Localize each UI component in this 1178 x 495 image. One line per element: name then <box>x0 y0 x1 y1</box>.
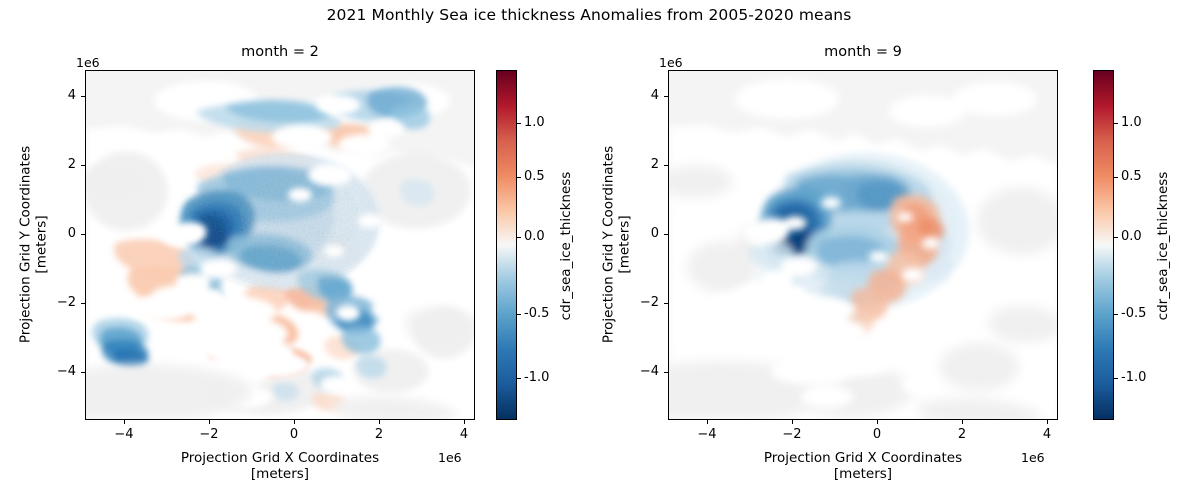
cbar-tick-right-0.0 <box>1114 237 1118 238</box>
xtick-label-right-2: 0 <box>847 427 907 442</box>
ytick-mark-right-n4 <box>664 372 668 373</box>
subplot-title-right: month = 9 <box>668 44 1058 60</box>
xaxis-label-left-line1: Projection Grid X Coordinates <box>85 450 475 466</box>
xtick-mark-right-4 <box>1047 420 1048 424</box>
xtick-label-right-1: −2 <box>762 427 822 442</box>
cbar-tick-left-n1.0 <box>517 378 521 379</box>
cbar-ticklabel-left-4: 1.0 <box>524 115 545 130</box>
cbar-ticklabel-right-1: -0.5 <box>1121 306 1146 321</box>
cbar-ticklabel-left-0: -1.0 <box>524 370 549 385</box>
xtick-label-left-0: −4 <box>94 427 154 442</box>
yaxis-label-left-line2: [meters] <box>34 69 50 419</box>
colorbar-gradient-left <box>497 71 516 419</box>
ytick-mark-left-0 <box>81 234 85 235</box>
cbar-tick-left-n0.5 <box>517 314 521 315</box>
cbar-tick-left-0.5 <box>517 177 521 178</box>
xaxis-label-right-line1: Projection Grid X Coordinates <box>668 450 1058 466</box>
xaxis-label-left: Projection Grid X Coordinates [meters] <box>85 450 475 483</box>
cbar-ticklabel-left-2: 0.0 <box>524 229 545 244</box>
cbar-tick-right-n0.5 <box>1114 314 1118 315</box>
figure-canvas: 2021 Monthly Sea ice thickness Anomalies… <box>0 0 1178 495</box>
ytick-mark-right-4 <box>664 96 668 97</box>
xtick-mark-right-2 <box>962 420 963 424</box>
xtick-mark-left-n4 <box>124 420 125 424</box>
cbar-ticklabel-left-3: 0.5 <box>524 169 545 184</box>
xtick-mark-right-n2 <box>792 420 793 424</box>
ytick-mark-left-2 <box>81 165 85 166</box>
ytick-mark-left-4 <box>81 96 85 97</box>
xaxis-label-right-line2: [meters] <box>668 466 1058 482</box>
y-offset-text-right: 1e6 <box>659 55 683 70</box>
xtick-mark-left-4 <box>464 420 465 424</box>
xtick-label-right-4: 4 <box>1017 427 1077 442</box>
xtick-label-left-1: −2 <box>179 427 239 442</box>
xtick-mark-right-n4 <box>707 420 708 424</box>
cbar-ticklabel-right-3: 0.5 <box>1121 169 1142 184</box>
ytick-mark-left-n4 <box>81 372 85 373</box>
ytick-mark-left-n2 <box>81 303 85 304</box>
cbar-tick-left-1.0 <box>517 123 521 124</box>
colorbar-gradient-right <box>1094 71 1113 419</box>
cbar-ticklabel-left-1: -0.5 <box>524 306 549 321</box>
cbar-ticklabel-right-4: 1.0 <box>1121 115 1142 130</box>
xtick-mark-left-2 <box>379 420 380 424</box>
xtick-label-right-3: 2 <box>932 427 992 442</box>
xtick-label-left-4: 4 <box>434 427 494 442</box>
ytick-mark-right-2 <box>664 165 668 166</box>
figure-suptitle: 2021 Monthly Sea ice thickness Anomalies… <box>0 6 1178 24</box>
map-axes-right[interactable] <box>668 70 1058 420</box>
xtick-label-left-3: 2 <box>349 427 409 442</box>
ytick-mark-right-n2 <box>664 303 668 304</box>
subplot-title-left: month = 2 <box>85 44 475 60</box>
colorbar-left[interactable] <box>496 70 517 420</box>
xtick-label-left-2: 0 <box>264 427 324 442</box>
xtick-label-right-0: −4 <box>677 427 737 442</box>
sea-ice-anomaly-map-september <box>669 71 1058 420</box>
ytick-mark-right-0 <box>664 234 668 235</box>
map-axes-left[interactable] <box>85 70 475 420</box>
cbar-tick-right-1.0 <box>1114 123 1118 124</box>
colorbar-right[interactable] <box>1093 70 1114 420</box>
cbar-tick-left-0.0 <box>517 237 521 238</box>
yaxis-label-left: Projection Grid Y Coordinates [meters] <box>18 69 51 419</box>
y-offset-text-left: 1e6 <box>76 55 100 70</box>
sea-ice-anomaly-map-february <box>86 71 475 420</box>
cbar-tick-right-n1.0 <box>1114 378 1118 379</box>
xtick-mark-left-0 <box>294 420 295 424</box>
yaxis-label-right: Projection Grid Y Coordinates [meters] <box>601 69 634 419</box>
xtick-mark-right-0 <box>877 420 878 424</box>
cbar-ticklabel-right-2: 0.0 <box>1121 229 1142 244</box>
colorbar-label-left: cdr_sea_ice_thickness <box>558 156 574 336</box>
yaxis-label-left-line1: Projection Grid Y Coordinates <box>18 69 34 419</box>
yaxis-label-right-line2: [meters] <box>617 69 633 419</box>
xaxis-label-left-line2: [meters] <box>85 466 475 482</box>
xtick-mark-left-n2 <box>209 420 210 424</box>
cbar-ticklabel-right-0: -1.0 <box>1121 370 1146 385</box>
yaxis-label-right-line1: Projection Grid Y Coordinates <box>601 69 617 419</box>
cbar-tick-right-0.5 <box>1114 177 1118 178</box>
xaxis-label-right: Projection Grid X Coordinates [meters] <box>668 450 1058 483</box>
colorbar-label-right: cdr_sea_ice_thickness <box>1155 156 1171 336</box>
